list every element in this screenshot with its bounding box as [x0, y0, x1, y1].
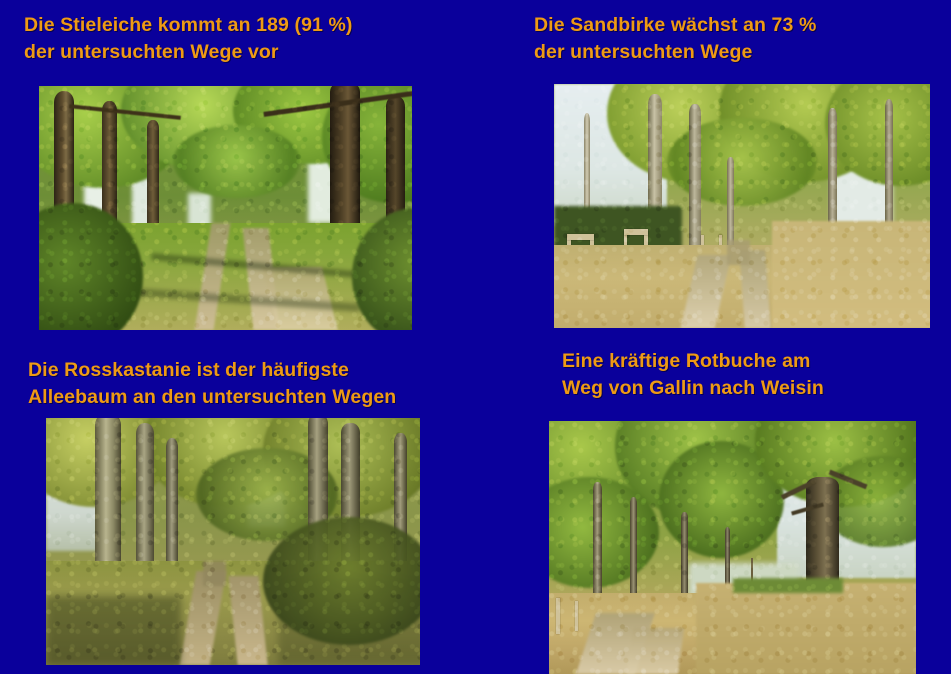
- heading-sandbirke: Die Sandbirke wächst an 73 % der untersu…: [534, 12, 816, 66]
- heading-stieleiche: Die Stieleiche kommt an 189 (91 %) der u…: [24, 12, 353, 66]
- heading-rotbuche: Eine kräftige Rotbuche am Weg von Gallin…: [562, 348, 824, 402]
- photo-stieleiche: [39, 86, 412, 330]
- heading-rosskastanie: Die Rosskastanie ist der häufigste Allee…: [28, 357, 396, 411]
- photo-rotbuche: [549, 421, 916, 674]
- photo-sandbirke: [554, 84, 930, 328]
- presentation-slide: Die Stieleiche kommt an 189 (91 %) der u…: [0, 0, 951, 674]
- photo-rosskastanie: [46, 418, 420, 665]
